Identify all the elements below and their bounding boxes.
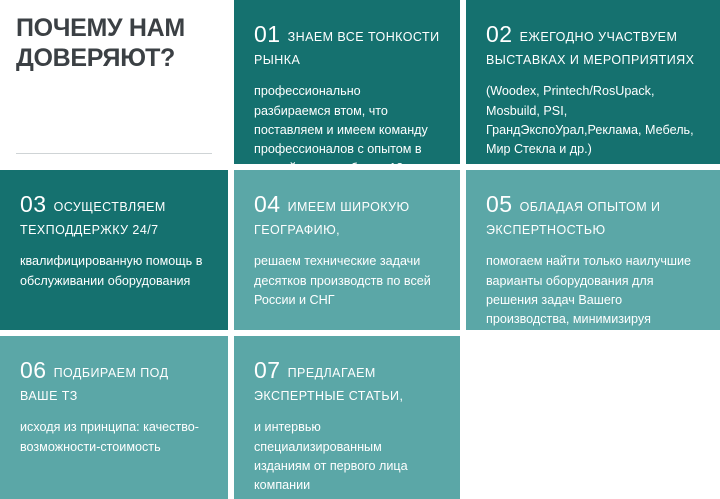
card-02-body: (Woodex, Printech/RosUpack, Mosbuild, PS… — [486, 82, 700, 159]
title-cell: ПОЧЕМУ НАМ ДОВЕРЯЮТ? — [0, 0, 228, 164]
card-06-body: исходя из принципа: качество-возможности… — [20, 418, 208, 456]
card-07-heading: 07ПРЕДЛАГАЕМ ЭКСПЕРТНЫЕ СТАТЬИ, — [254, 354, 440, 405]
avito-logo-icon — [632, 463, 654, 485]
card-06[interactable]: 06ПОДБИРАЕМ ПОД ВАШЕ ТЗ исходя из принци… — [0, 336, 228, 499]
card-04-number: 04 — [254, 191, 281, 217]
avito-watermark: Avito — [632, 463, 708, 485]
card-05-heading: 05ОБЛАДАЯ ОПЫТОМ И ЭКСПЕРТНОСТЬЮ — [486, 188, 700, 239]
card-03-heading: 03ОСУЩЕСТВЛЯЕМ ТЕХПОДДЕРЖКУ 24/7 — [20, 188, 208, 239]
card-07-body: и интервью специализированным изданиям о… — [254, 418, 440, 495]
card-07[interactable]: 07ПРЕДЛАГАЕМ ЭКСПЕРТНЫЕ СТАТЬИ, и интерв… — [234, 336, 460, 499]
card-01[interactable]: 01ЗНАЕМ ВСЕ ТОНКОСТИ РЫНКА профессиональ… — [234, 0, 460, 164]
card-01-heading: 01ЗНАЕМ ВСЕ ТОНКОСТИ РЫНКА — [254, 18, 440, 69]
card-03-body: квалифицированную помощь в обслуживании … — [20, 252, 208, 290]
card-03-number: 03 — [20, 191, 47, 217]
card-02-heading: 02ЕЖЕГОДНО УЧАСТВУЕМ ВЫСТАВКАХ И МЕРОПРИ… — [486, 18, 700, 69]
infographic-board: ПОЧЕМУ НАМ ДОВЕРЯЮТ? 01ЗНАЕМ ВСЕ ТОНКОСТ… — [0, 0, 720, 499]
page-title: ПОЧЕМУ НАМ ДОВЕРЯЮТ? — [16, 14, 212, 73]
card-02-number: 02 — [486, 21, 513, 47]
card-06-number: 06 — [20, 357, 47, 383]
card-05-number: 05 — [486, 191, 513, 217]
card-04-heading: 04ИМЕЕМ ШИРОКУЮ ГЕОГРАФИЮ, — [254, 188, 440, 239]
card-06-heading: 06ПОДБИРАЕМ ПОД ВАШЕ ТЗ — [20, 354, 208, 405]
avito-wordmark: Avito — [659, 464, 708, 485]
card-02-heading-text: ЕЖЕГОДНО УЧАСТВУЕМ ВЫСТАВКАХ И МЕРОПРИЯТ… — [486, 30, 694, 67]
card-05-body: помогаем найти только наилучшие варианты… — [486, 252, 700, 330]
title-divider — [16, 153, 212, 154]
card-04-body: решаем технические задачи десятков произ… — [254, 252, 440, 309]
card-01-body: профессионально разбираемся втом, что по… — [254, 82, 440, 164]
card-07-number: 07 — [254, 357, 281, 383]
card-04[interactable]: 04ИМЕЕМ ШИРОКУЮ ГЕОГРАФИЮ, решаем технич… — [234, 170, 460, 330]
card-05[interactable]: 05ОБЛАДАЯ ОПЫТОМ И ЭКСПЕРТНОСТЬЮ помогае… — [466, 170, 720, 330]
card-01-heading-text: ЗНАЕМ ВСЕ ТОНКОСТИ РЫНКА — [254, 30, 440, 67]
card-03[interactable]: 03ОСУЩЕСТВЛЯЕМ ТЕХПОДДЕРЖКУ 24/7 квалифи… — [0, 170, 228, 330]
card-02[interactable]: 02ЕЖЕГОДНО УЧАСТВУЕМ ВЫСТАВКАХ И МЕРОПРИ… — [466, 0, 720, 164]
card-01-number: 01 — [254, 21, 281, 47]
